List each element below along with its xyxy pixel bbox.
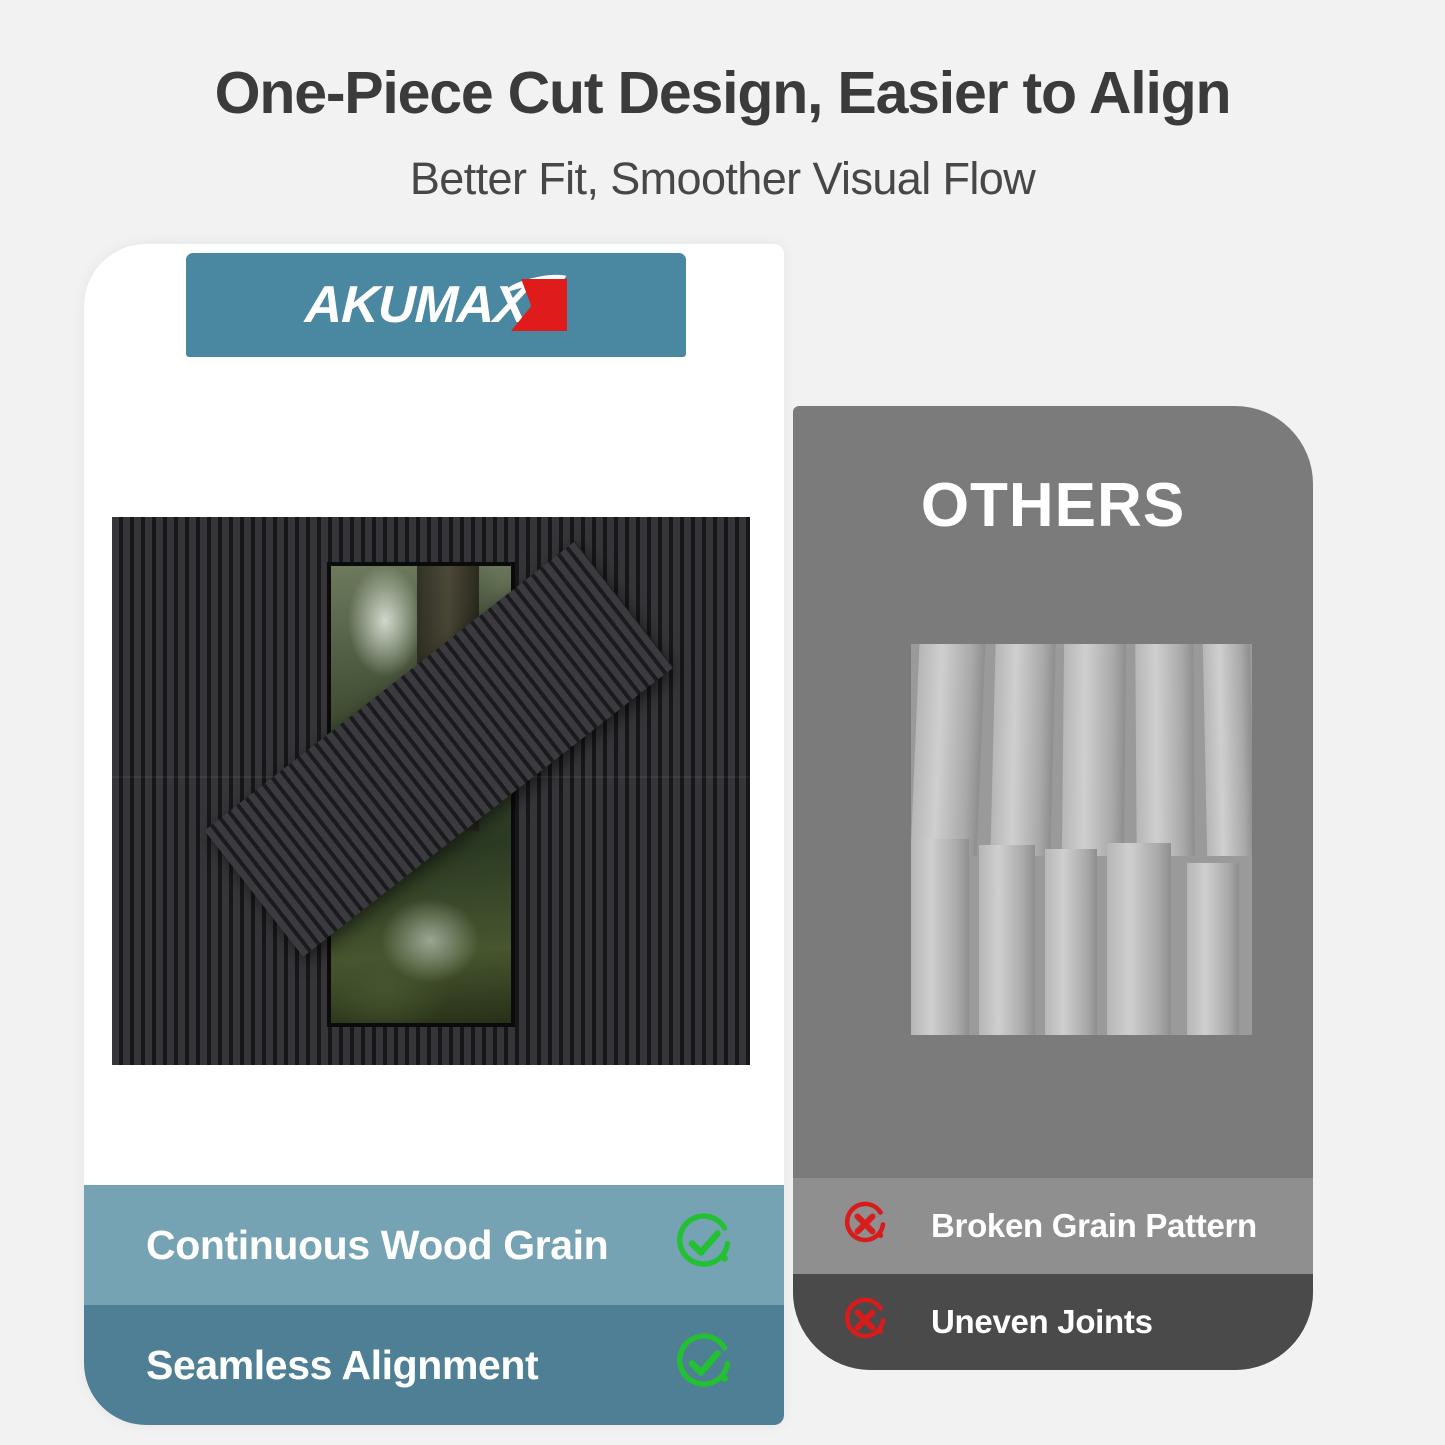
others-feature-label: Broken Grain Pattern (931, 1207, 1257, 1245)
check-circle-icon (670, 1329, 738, 1402)
brand-feature-label: Continuous Wood Grain (146, 1222, 608, 1269)
brand-product-photo (112, 517, 750, 1065)
others-feature-row: Broken Grain Pattern (793, 1178, 1313, 1274)
brand-feature-row: Seamless Alignment (84, 1305, 784, 1425)
others-feature-row: Uneven Joints (793, 1274, 1313, 1370)
brand-logo-banner: AKUMAX (186, 253, 686, 357)
brand-feature-label: Seamless Alignment (146, 1342, 538, 1389)
check-icon-slot (624, 1209, 784, 1282)
cross-circle-icon (839, 1294, 891, 1351)
check-circle-icon (670, 1209, 738, 1282)
brand-card: AKUMAX Continuous Wood Grain (84, 244, 784, 1425)
others-product-photo (911, 644, 1252, 1035)
others-title: OTHERS (793, 470, 1313, 541)
brand-logo-text: AKUMAX (304, 275, 528, 335)
comparison-stage: OTHERS Broken Grain Pat (0, 0, 1445, 1445)
check-icon-slot (624, 1329, 784, 1402)
others-feature-label: Uneven Joints (931, 1303, 1153, 1341)
cross-circle-icon (839, 1198, 891, 1255)
brand-feature-row: Continuous Wood Grain (84, 1185, 784, 1305)
others-card: OTHERS Broken Grain Pat (793, 406, 1313, 1370)
